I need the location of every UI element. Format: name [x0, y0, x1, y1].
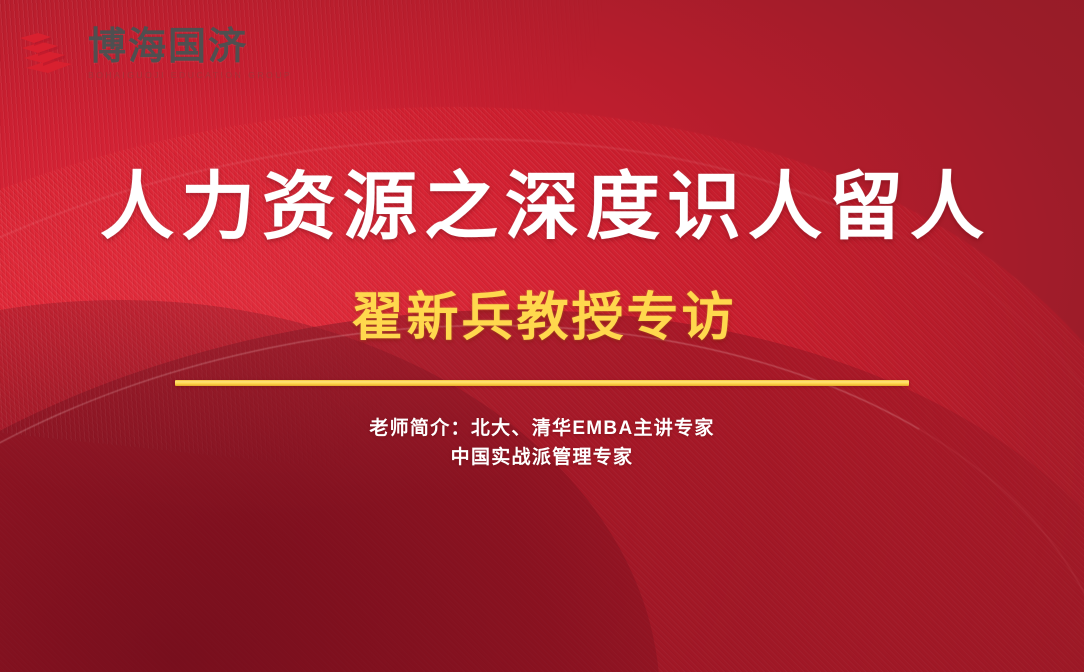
logo-english-tagline: BOHAIGUOJI EDUCATION GROUP	[88, 71, 292, 80]
speaker-credits: 老师简介：北大、清华EMBA主讲专家 中国实战派管理专家	[369, 414, 714, 473]
title-slide: 博海国济 BOHAIGUOJI EDUCATION GROUP 人力资源之深度识…	[0, 0, 1084, 672]
page-subtitle: 翟新兵教授专访	[347, 292, 736, 344]
slide-content: 人力资源之深度识人留人 翟新兵教授专访 老师简介：北大、清华EMBA主讲专家 中…	[0, 0, 1084, 672]
page-title: 人力资源之深度识人留人	[93, 170, 991, 244]
speaker-credits-line-2: 中国实战派管理专家	[369, 443, 714, 472]
gold-divider	[175, 380, 909, 386]
logo-wordmark: 博海国济 BOHAIGUOJI EDUCATION GROUP	[88, 28, 288, 80]
logo-chinese-name: 博海国济	[88, 28, 288, 66]
logo-emblem-icon	[18, 29, 76, 79]
speaker-credits-line-1: 老师简介：北大、清华EMBA主讲专家	[369, 414, 714, 443]
brand-logo: 博海国济 BOHAIGUOJI EDUCATION GROUP	[18, 28, 288, 80]
